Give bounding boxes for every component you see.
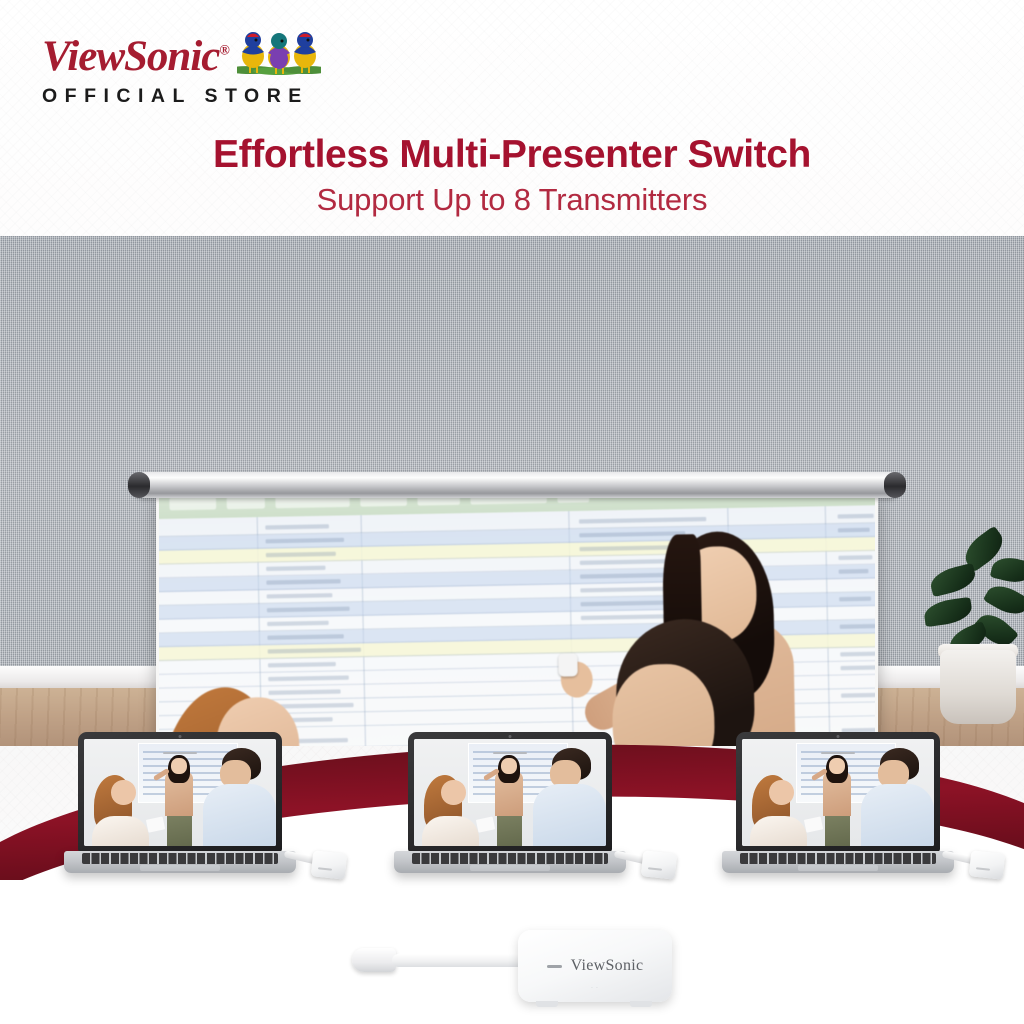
laptop-lid	[78, 732, 282, 852]
laptop-trackpad[interactable]	[140, 865, 220, 871]
presentation-clicker	[558, 653, 578, 677]
webcam-icon	[509, 735, 512, 738]
webcam-icon	[179, 735, 182, 738]
laptop-keyboard[interactable]	[412, 853, 608, 864]
logo-row: ViewSonic®	[42, 26, 462, 78]
laptop-3[interactable]	[722, 732, 954, 892]
dongle-body	[641, 850, 678, 879]
laptop-keyboard[interactable]	[82, 853, 278, 864]
screen-roller-housing	[132, 472, 902, 498]
webcam-icon	[837, 735, 840, 738]
dongle-body	[311, 850, 348, 879]
laptop-2[interactable]	[394, 732, 626, 892]
product-cable	[392, 954, 528, 967]
marketing-banner: ViewSonic®	[0, 0, 1024, 1024]
transmitter-dongle-2[interactable]	[614, 844, 676, 884]
laptop-lip-notch	[821, 752, 855, 755]
laptop-lip-notch	[163, 752, 197, 755]
laptop-screen	[414, 739, 606, 846]
laptop-lip-notch	[493, 752, 527, 755]
brand-wordmark: ViewSonic®	[42, 35, 229, 78]
product-brand-label: ViewSonic	[571, 957, 644, 975]
laptop-lid	[736, 732, 940, 852]
brand-name: ViewSonic	[42, 33, 219, 80]
product-body: ViewSonic · ·	[518, 930, 672, 1002]
laptop-trackpad[interactable]	[470, 865, 550, 871]
registered-mark-icon: ®	[219, 44, 228, 59]
laptop-base	[394, 851, 626, 873]
usb-c-connector	[352, 948, 396, 972]
headline-block: Effortless Multi-Presenter Switch Suppor…	[0, 134, 1024, 217]
laptop-screen	[742, 739, 934, 846]
roller-end-cap-left	[128, 472, 150, 498]
laptop-base	[722, 851, 954, 873]
official-store-label: OFFICIAL STORE	[42, 85, 462, 108]
headline-sub: Support Up to 8 Transmitters	[0, 183, 1024, 217]
laptop-keyboard[interactable]	[740, 853, 936, 864]
gouldian-finches-icon	[237, 26, 321, 76]
laptop-base	[64, 851, 296, 873]
laptop-lid	[408, 732, 612, 852]
headline-main: Effortless Multi-Presenter Switch	[0, 134, 1024, 177]
product-model-label: · ·	[591, 985, 599, 991]
laptop-trackpad[interactable]	[798, 865, 878, 871]
brand-header: ViewSonic®	[42, 26, 462, 108]
product-foot-right	[630, 1001, 652, 1007]
roller-end-cap-right	[884, 472, 906, 498]
dongle-body	[969, 850, 1006, 879]
transmitter-dongle-1[interactable]	[284, 844, 346, 884]
projector-screen	[132, 472, 902, 732]
laptop-1[interactable]	[64, 732, 296, 892]
laptop-screen	[84, 739, 276, 846]
hero-transmitter-product[interactable]: ViewSonic · ·	[352, 924, 672, 1008]
dash-button-icon[interactable]	[547, 965, 562, 968]
conference-room-scene	[0, 236, 1024, 746]
product-foot-left	[536, 1001, 558, 1007]
transmitter-dongle-3[interactable]	[942, 844, 1004, 884]
